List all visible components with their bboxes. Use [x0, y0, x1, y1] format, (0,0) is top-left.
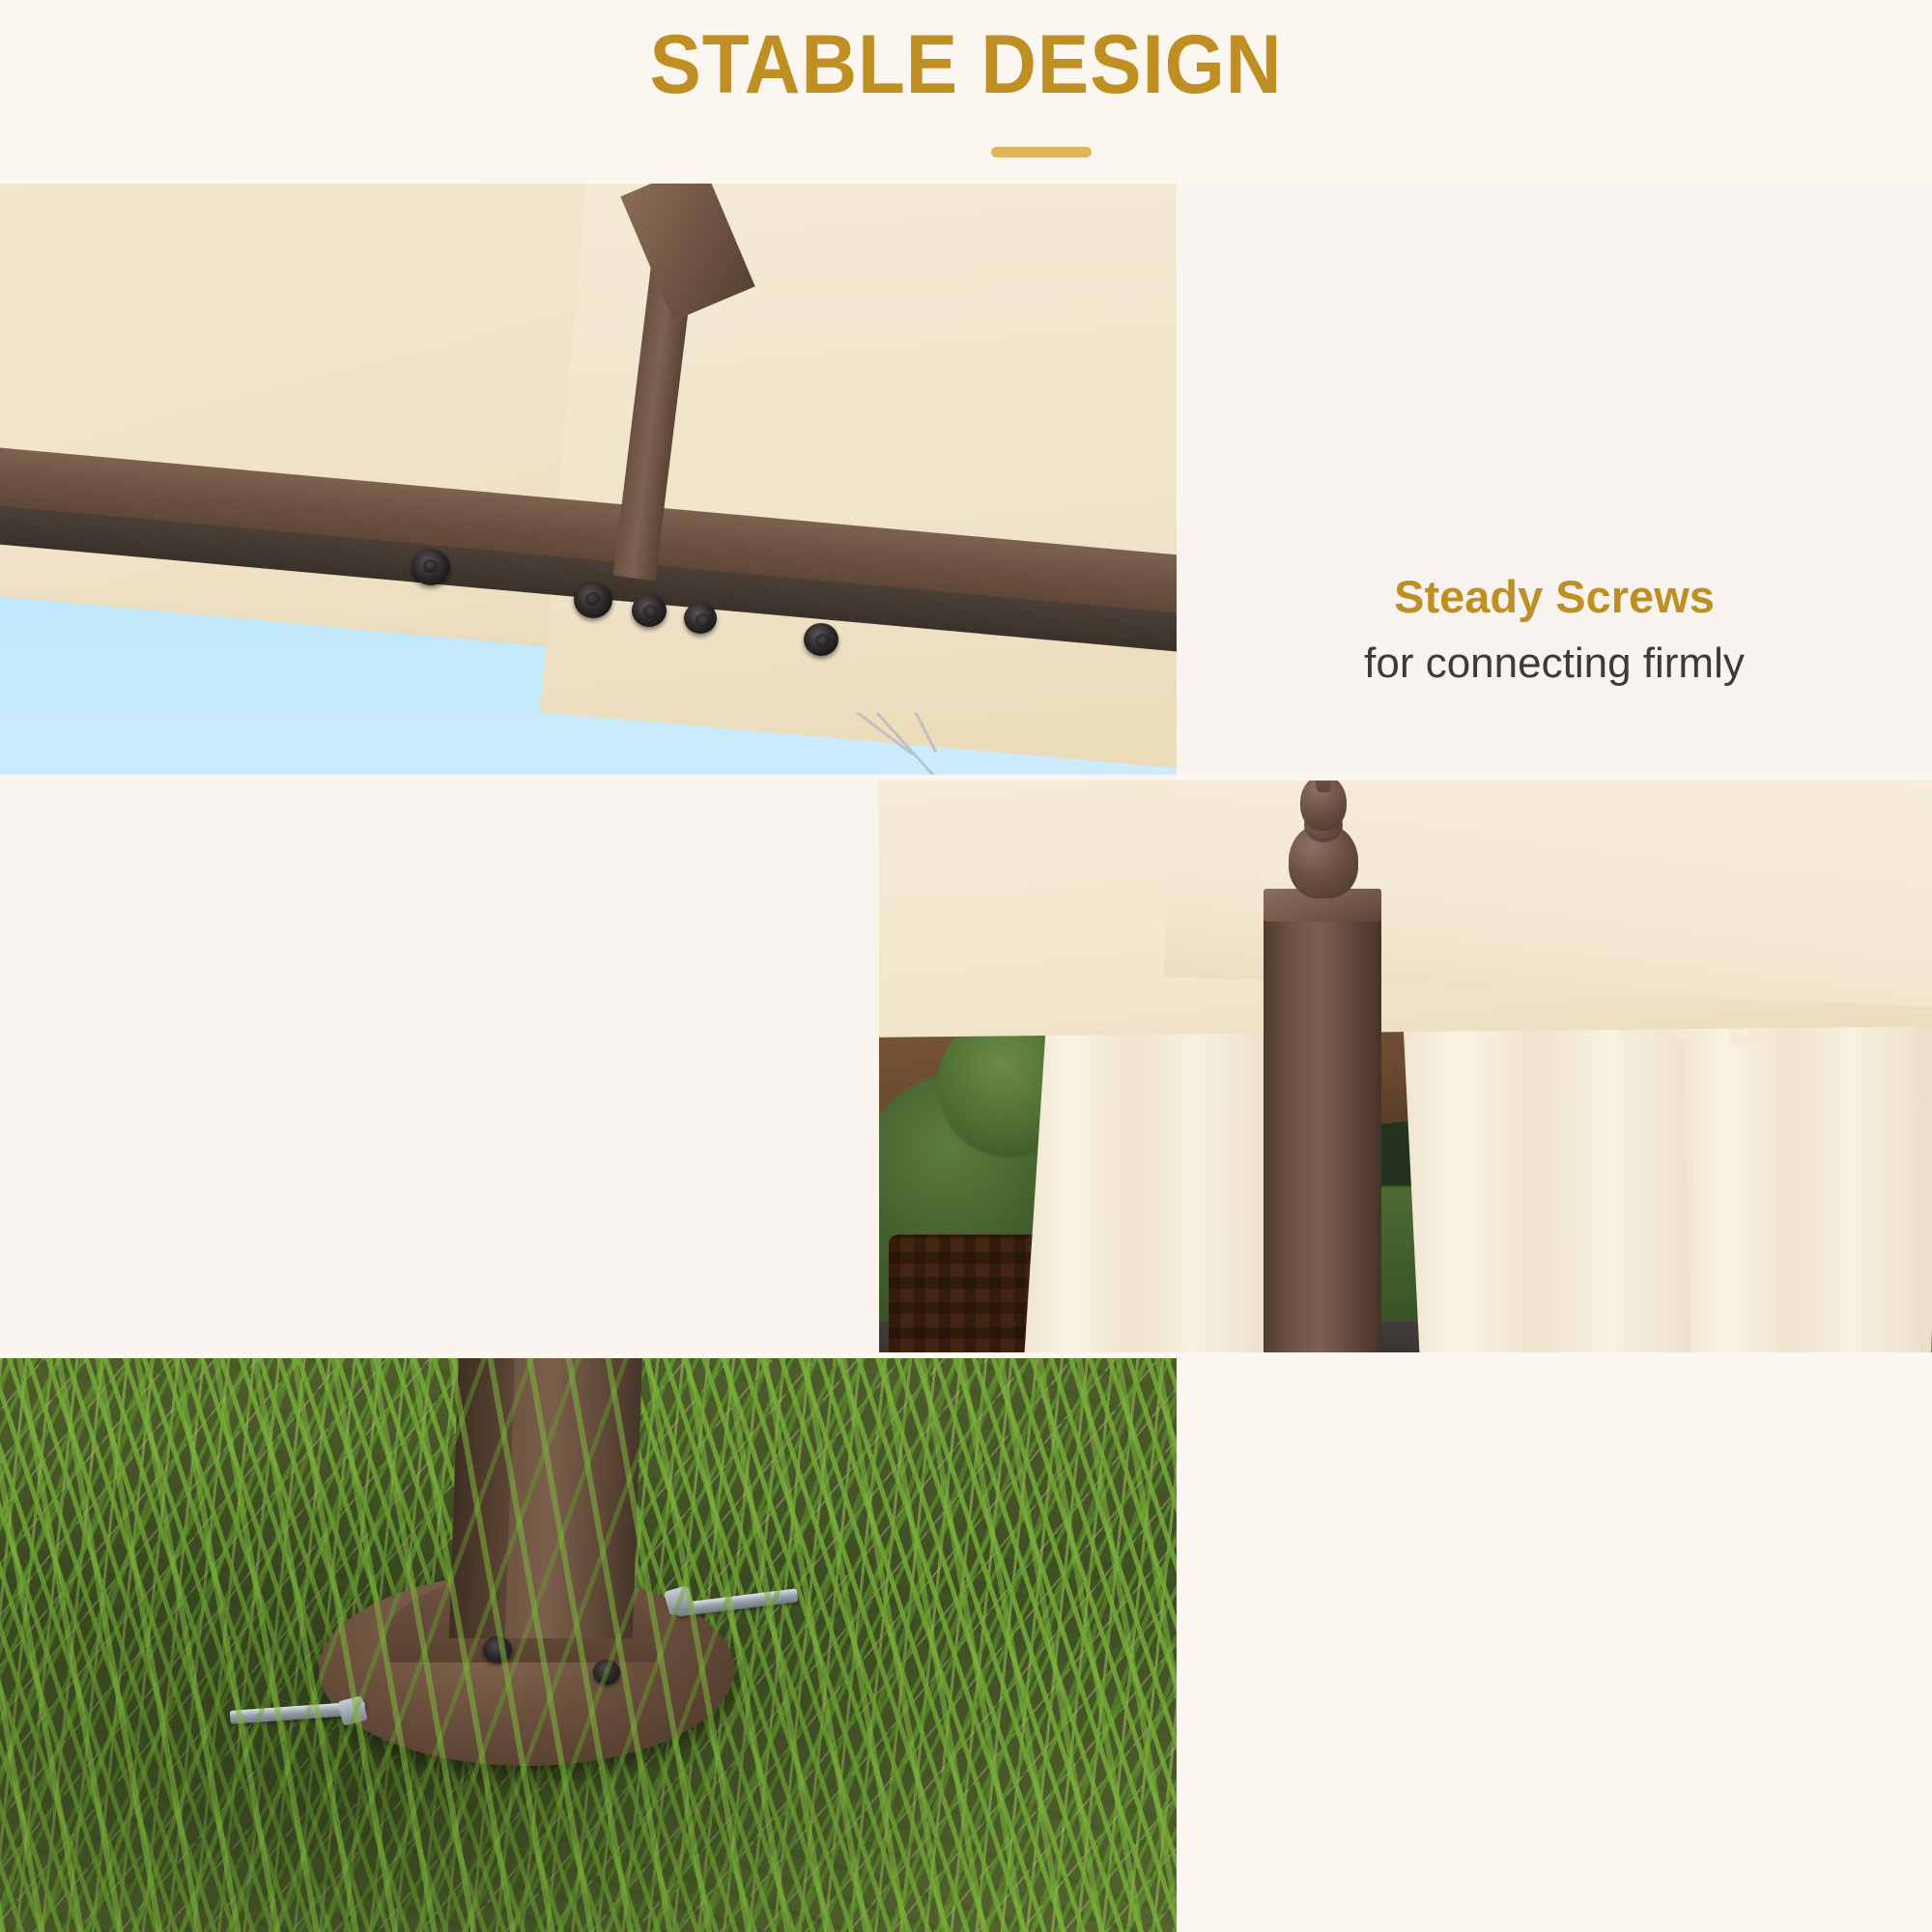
screw-icon [804, 623, 838, 656]
screw-icon [483, 1636, 512, 1663]
screw-icon [412, 549, 450, 585]
page-title: STABLE DESIGN [68, 17, 1864, 113]
screw-icon [593, 1660, 620, 1685]
feature-row-sturdy-steel-frame: Sturdy Steel Frame for strong support [0, 781, 1932, 1352]
feature-title: Steady Screws [1177, 570, 1932, 623]
feature-subtitle: for connecting firmly [1177, 637, 1932, 690]
feature-row-feets-with-holes: Feets with Holes to insert ground stakes [0, 1358, 1932, 1932]
finial-ornament-icon [1283, 781, 1364, 904]
screw-icon [574, 582, 612, 618]
steel-corner-post [1264, 896, 1381, 1352]
screw-icon [632, 594, 667, 627]
feature-text-steady-screws: Steady Screws for connecting firmly [1177, 570, 1932, 690]
title-underline-accent [991, 147, 1092, 157]
photo-sturdy-steel-frame [879, 781, 1932, 1352]
photo-feets-with-holes [0, 1358, 1177, 1932]
feature-row-steady-screws: Steady Screws for connecting firmly [0, 184, 1932, 775]
infographic-page: STABLE DESIGN Steady Screws for connecti… [0, 0, 1932, 1932]
photo-steady-screws [0, 184, 1177, 775]
screw-icon [684, 603, 717, 634]
background-branches [833, 713, 1007, 775]
steel-post-edge [449, 1358, 515, 1638]
header: STABLE DESIGN [0, 0, 1932, 184]
